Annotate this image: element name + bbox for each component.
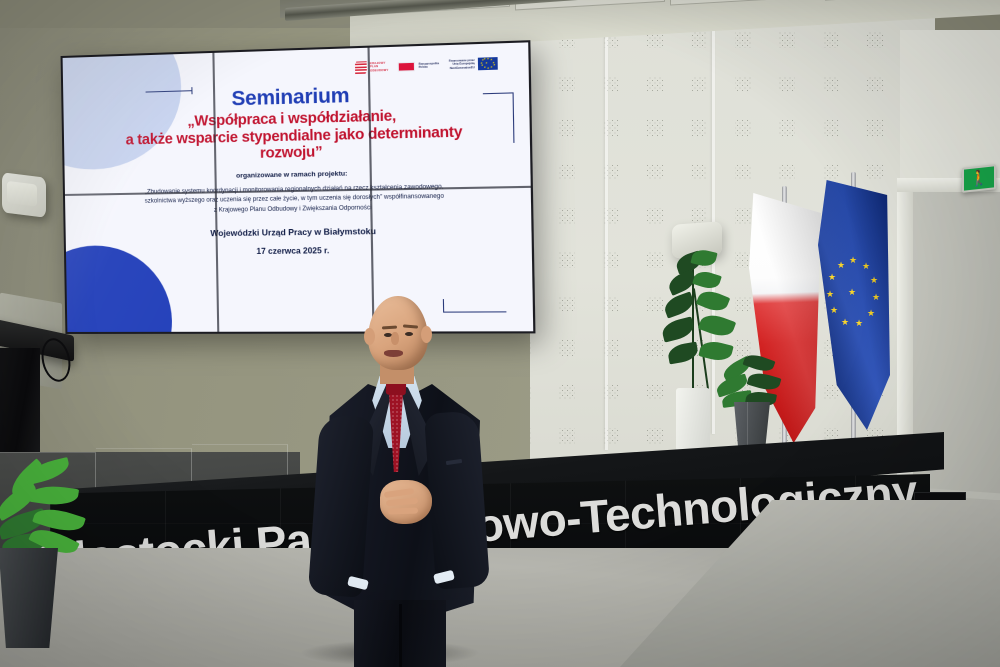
kpo-logo: KRAJOWYPLANODBUDOWY <box>355 61 389 74</box>
slide-organized-label: organizowane w ramach projektu: <box>79 167 515 183</box>
plant-pot-foreground <box>0 548 58 648</box>
mouth <box>384 350 403 357</box>
slide-subtitle: „Współpraca i współdziałanie, a także ws… <box>78 105 515 166</box>
kpo-logo-text: KRAJOWYPLANODBUDOWY <box>370 62 389 73</box>
photo-scene: 🚶 KRAJOWYPLANODBUDOWY Rzeczpospol <box>0 0 1000 667</box>
plant-pot-white <box>676 388 710 454</box>
slide-institution: Wojewódzki Urząd Pracy w Białymstoku <box>80 224 517 240</box>
clasped-hands <box>380 480 432 524</box>
wall-speaker-left <box>2 172 46 217</box>
european-union-logo-text: Finansowane przezUnię EuropejskąNextGene… <box>449 59 475 70</box>
european-union-logo: Finansowane przezUnię EuropejskąNextGene… <box>449 57 498 71</box>
trouser-seam <box>399 604 402 667</box>
eu-flag-icon: ★★ ★★ ★★ ★★ ★★ ★★ <box>478 57 498 70</box>
running-person-glyph: 🚶 <box>970 170 989 187</box>
kpo-mark-icon <box>355 61 367 74</box>
emergency-exit-icon: 🚶 <box>962 164 996 193</box>
nose <box>391 332 399 345</box>
presenter <box>296 288 516 667</box>
slide-date: 17 czerwca 2025 r. <box>80 244 517 258</box>
rzeczpospolita-polska-logo: RzeczpospolitaPolska <box>398 61 439 72</box>
arm-right <box>424 410 490 589</box>
polish-flag-icon <box>398 61 415 71</box>
rzeczpospolita-polska-logo-text: RzeczpospolitaPolska <box>419 62 440 70</box>
panel-seam <box>605 20 608 450</box>
